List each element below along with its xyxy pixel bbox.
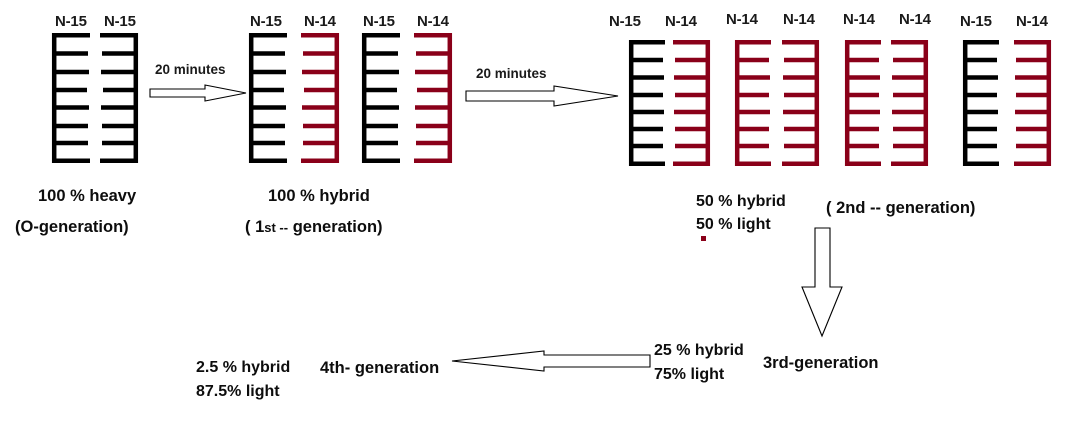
dna-strand-light-g2-m3-right	[890, 40, 928, 170]
caption-gen3-hybrid-percent: 25 % hybrid	[654, 343, 744, 359]
dna-strand-light-g2-m1-right	[672, 40, 710, 170]
dna-strand-heavy-g0-right	[100, 33, 138, 163]
dna-strand-heavy-g2-m4-left	[963, 40, 1001, 170]
dna-strand-light-g2-m2-right	[781, 40, 819, 170]
strand-label-n14-g2-m2-left: N-14	[726, 11, 758, 28]
caption-gen0-composition: 100 % heavy	[38, 188, 136, 205]
arrow-gen3-to-gen4-icon	[452, 349, 650, 373]
strand-label-n15-g1-m1-left: N-15	[250, 13, 282, 30]
caption-gen1-generation-pre: ( 1	[245, 218, 264, 236]
dna-strand-light-g1-m1-right	[301, 33, 339, 163]
caption-gen2-hybrid-percent: 50 % hybrid	[696, 194, 786, 210]
arrow-label-20-minutes-2: 20 minutes	[476, 66, 547, 81]
strand-label-n15-g0-right: N-15	[104, 13, 136, 30]
caption-gen1-generation-post: generation)	[288, 218, 382, 236]
strand-label-n14-g1-m1-right: N-14	[304, 13, 336, 30]
arrow-gen0-to-gen1-icon	[150, 84, 246, 102]
strand-label-n14-g2-m1-right: N-14	[665, 13, 697, 30]
dna-strand-heavy-g2-m1-left	[629, 40, 667, 170]
strand-label-n15-g2-m4-left: N-15	[960, 13, 992, 30]
caption-gen4-light-percent: 87.5% light	[196, 384, 280, 400]
caption-gen3-generation: 3rd-generation	[763, 355, 879, 372]
caption-gen3-light-percent: 75% light	[654, 367, 724, 383]
dna-strand-heavy-g1-m1-left	[249, 33, 287, 163]
dna-strand-heavy-g0-left	[52, 33, 90, 163]
dna-strand-light-g2-m2-left	[735, 40, 773, 170]
dna-strand-heavy-g1-m2-left	[362, 33, 400, 163]
strand-label-n14-g2-m2-right: N-14	[783, 11, 815, 28]
caption-gen1-composition: 100 % hybrid	[268, 188, 370, 205]
arrow-gen2-to-gen3-icon	[800, 228, 844, 336]
caption-gen1-generation-sup: st --	[264, 220, 288, 235]
caption-gen0-generation: (O-generation)	[15, 219, 129, 236]
arrow-label-20-minutes-1: 20 minutes	[155, 62, 226, 77]
strand-label-n14-g2-m3-right: N-14	[899, 11, 931, 28]
arrow-gen1-to-gen2-icon	[466, 86, 618, 106]
caption-gen1-generation: ( 1st -- generation)	[245, 219, 383, 236]
dna-strand-light-g2-m3-left	[845, 40, 883, 170]
strand-label-n14-g2-m4-right: N-14	[1016, 13, 1048, 30]
strand-label-n15-g0-left: N-15	[55, 13, 87, 30]
strand-label-n15-g1-m2-left: N-15	[363, 13, 395, 30]
strand-label-n14-g1-m2-right: N-14	[417, 13, 449, 30]
strand-label-n14-g2-m3-left: N-14	[843, 11, 875, 28]
caption-gen4-generation: 4th- generation	[320, 360, 439, 377]
caption-gen2-light-percent: 50 % light	[696, 217, 771, 233]
dna-strand-light-g1-m2-right	[414, 33, 452, 163]
caption-gen4-hybrid-percent: 2.5 % hybrid	[196, 360, 290, 376]
stray-red-dot-marker	[701, 236, 706, 241]
dna-replication-diagram: N-15 N-15 N-15 N-14 N-15 N-14 N-15 N-14 …	[0, 0, 1071, 431]
dna-strand-light-g2-m4-right	[1013, 40, 1051, 170]
caption-gen2-generation: ( 2nd -- generation)	[826, 200, 975, 217]
strand-label-n15-g2-m1-left: N-15	[609, 13, 641, 30]
